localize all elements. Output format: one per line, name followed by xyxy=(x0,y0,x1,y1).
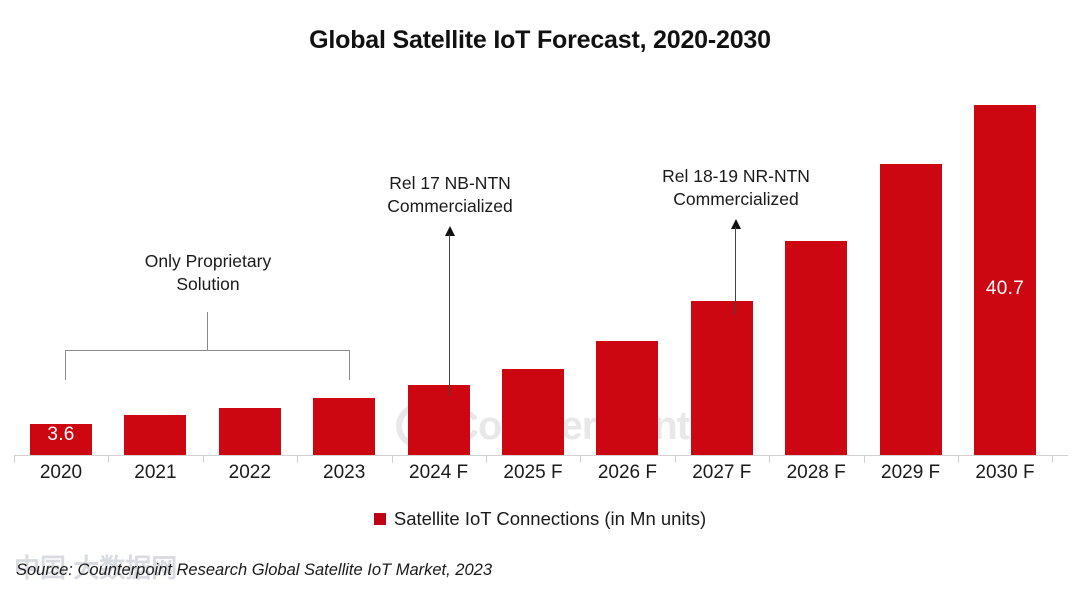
bracket-right-tick xyxy=(349,350,350,380)
annotation-only-proprietary: Only Proprietary Solution xyxy=(108,250,308,296)
chart-plot-area: 3.640.7 Only Proprietary Solution Rel 17… xyxy=(0,60,1080,456)
x-axis-label-2028-f: 2028 F xyxy=(769,462,863,484)
x-axis-label-2022: 2022 xyxy=(203,462,297,484)
bar-2028-f[interactable] xyxy=(785,241,847,455)
x-axis-label-2024-f: 2024 F xyxy=(392,462,486,484)
arrow-shaft xyxy=(735,227,736,315)
legend-label: Satellite IoT Connections (in Mn units) xyxy=(394,508,706,530)
annotation-rel-18-19: Rel 18-19 NR-NTN Commercialized xyxy=(635,165,837,211)
x-axis-label-2027-f: 2027 F xyxy=(675,462,769,484)
bar-2029-f[interactable] xyxy=(880,164,942,455)
annotation-rel-17-arrow xyxy=(443,226,457,396)
arrow-shaft xyxy=(449,234,450,396)
bar-2026-f[interactable] xyxy=(596,341,658,455)
bracket-stem xyxy=(207,312,208,351)
x-axis-label-2023: 2023 xyxy=(297,462,391,484)
bracket-left-tick xyxy=(65,350,66,380)
annotation-rel-18-19-arrow xyxy=(729,219,743,315)
annotation-bracket xyxy=(65,350,350,380)
bar-2021[interactable] xyxy=(124,415,186,455)
bar-2024-f[interactable] xyxy=(408,385,470,455)
x-axis-tick xyxy=(1052,456,1053,463)
bar-2030-f[interactable]: 40.7 xyxy=(974,105,1036,455)
annotation-rel-17-line1: Rel 17 NB-NTN xyxy=(355,172,545,195)
x-axis-label-2026-f: 2026 F xyxy=(580,462,674,484)
annotation-only-proprietary-line2: Solution xyxy=(108,273,308,296)
legend-swatch-icon xyxy=(374,513,386,525)
page-title: Global Satellite IoT Forecast, 2020-2030 xyxy=(0,26,1080,55)
x-axis-label-2021: 2021 xyxy=(108,462,202,484)
bar-2020[interactable]: 3.6 xyxy=(30,424,92,455)
annotation-rel-18-19-line1: Rel 18-19 NR-NTN xyxy=(635,165,837,188)
annotation-rel-17: Rel 17 NB-NTN Commercialized xyxy=(355,172,545,218)
bar-value-label-2030-f: 40.7 xyxy=(974,278,1036,300)
annotation-only-proprietary-line1: Only Proprietary xyxy=(108,250,308,273)
x-axis-label-2020: 2020 xyxy=(14,462,108,484)
annotation-rel-17-line2: Commercialized xyxy=(355,195,545,218)
bar-2027-f[interactable] xyxy=(691,301,753,455)
bar-2023[interactable] xyxy=(313,398,375,455)
annotation-rel-18-19-line2: Commercialized xyxy=(635,188,837,211)
bar-2022[interactable] xyxy=(219,408,281,455)
x-axis-label-2029-f: 2029 F xyxy=(864,462,958,484)
x-axis-label-2030-f: 2030 F xyxy=(958,462,1052,484)
bar-value-label-2020: 3.6 xyxy=(30,424,92,446)
x-axis-line xyxy=(14,455,1068,456)
chart-legend[interactable]: Satellite IoT Connections (in Mn units) xyxy=(0,508,1080,530)
bar-2025-f[interactable] xyxy=(502,369,564,455)
x-axis-label-2025-f: 2025 F xyxy=(486,462,580,484)
source-note: Source: Counterpoint Research Global Sat… xyxy=(16,561,492,580)
